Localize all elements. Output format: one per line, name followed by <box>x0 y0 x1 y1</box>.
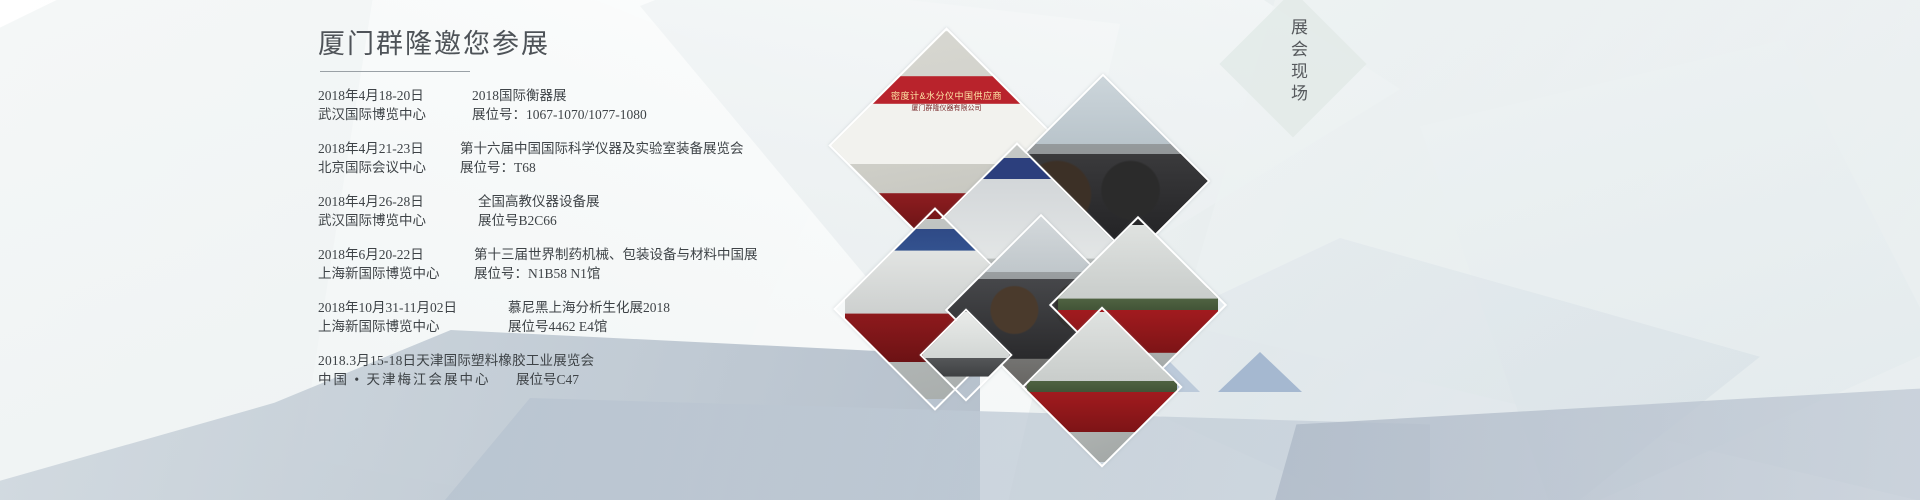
event-booth: 展位号：1067-1070/1077-1080 <box>472 105 647 124</box>
booth-company-text: 厦门群隆仪器有限公司 <box>832 103 1062 113</box>
event-date: 2018年4月18-20日 <box>318 86 436 105</box>
onsite-label-text: 展会现场 <box>1276 18 1310 118</box>
event-venue: 上海新国际博览中心 <box>318 317 486 336</box>
event-item: 2018年4月18-20日2018国际衡器展 武汉国际博览中心展位号：1067-… <box>318 86 878 124</box>
event-booth: 展位号：T68 <box>460 158 536 177</box>
event-item: 2018.3月15-18日天津国际塑料橡胶工业展览会 中国 • 天津梅江会展中心… <box>318 351 878 389</box>
event-item: 2018年6月20-22日第十三届世界制药机械、包装设备与材料中国展 上海新国际… <box>318 245 878 283</box>
event-booth: 展位号4462 E4馆 <box>508 317 607 336</box>
event-booth: 展位号B2C66 <box>478 211 557 230</box>
background-polygon-e <box>1420 40 1920 500</box>
background-polygon-h <box>1270 388 1920 500</box>
event-booth: 展位号：N1B58 N1馆 <box>474 264 600 283</box>
event-venue: 武汉国际博览中心 <box>318 211 436 230</box>
event-venue: 中国 • 天津梅江会展中心 <box>318 370 498 389</box>
title-underline <box>320 71 470 72</box>
event-name: 第十三届世界制药机械、包装设备与材料中国展 <box>474 245 758 264</box>
event-item: 2018年4月26-28日全国高教仪器设备展 武汉国际博览中心展位号B2C66 <box>318 192 878 230</box>
event-item: 2018年4月21-23日第十六届中国国际科学仪器及实验室装备展览会 北京国际会… <box>318 139 878 177</box>
event-date: 2018年4月26-28日 <box>318 192 436 211</box>
event-name: 2018.3月15-18日天津国际塑料橡胶工业展览会 <box>318 351 594 370</box>
event-name: 2018国际衡器展 <box>472 86 567 105</box>
event-name: 第十六届中国国际科学仪器及实验室装备展览会 <box>460 139 744 158</box>
event-date: 2018年4月21-23日 <box>318 139 436 158</box>
event-date: 2018年10月31-11月02日 <box>318 298 486 317</box>
event-booth: 展位号C47 <box>516 370 579 389</box>
event-name: 全国高教仪器设备展 <box>478 192 600 211</box>
booth-banner-text: 密度计&水分仪中国供应商 <box>832 88 1062 101</box>
photo-collage: 密度计&水分仪中国供应商 厦门群隆仪器有限公司 <box>845 0 1205 500</box>
triangle-accent-medium <box>1218 352 1302 392</box>
event-venue: 北京国际会议中心 <box>318 158 436 177</box>
event-venue: 武汉国际博览中心 <box>318 105 436 124</box>
page-title: 厦门群隆邀您参展 <box>318 22 878 69</box>
event-date: 2018年6月20-22日 <box>318 245 454 264</box>
event-venue: 上海新国际博览中心 <box>318 264 454 283</box>
exhibition-schedule: 厦门群隆邀您参展 2018年4月18-20日2018国际衡器展 武汉国际博览中心… <box>318 22 878 404</box>
event-name: 慕尼黑上海分析生化展2018 <box>508 298 670 317</box>
event-item: 2018年10月31-11月02日慕尼黑上海分析生化展2018 上海新国际博览中… <box>318 298 878 336</box>
promo-banner: 厦门群隆邀您参展 2018年4月18-20日2018国际衡器展 武汉国际博览中心… <box>0 0 1920 500</box>
